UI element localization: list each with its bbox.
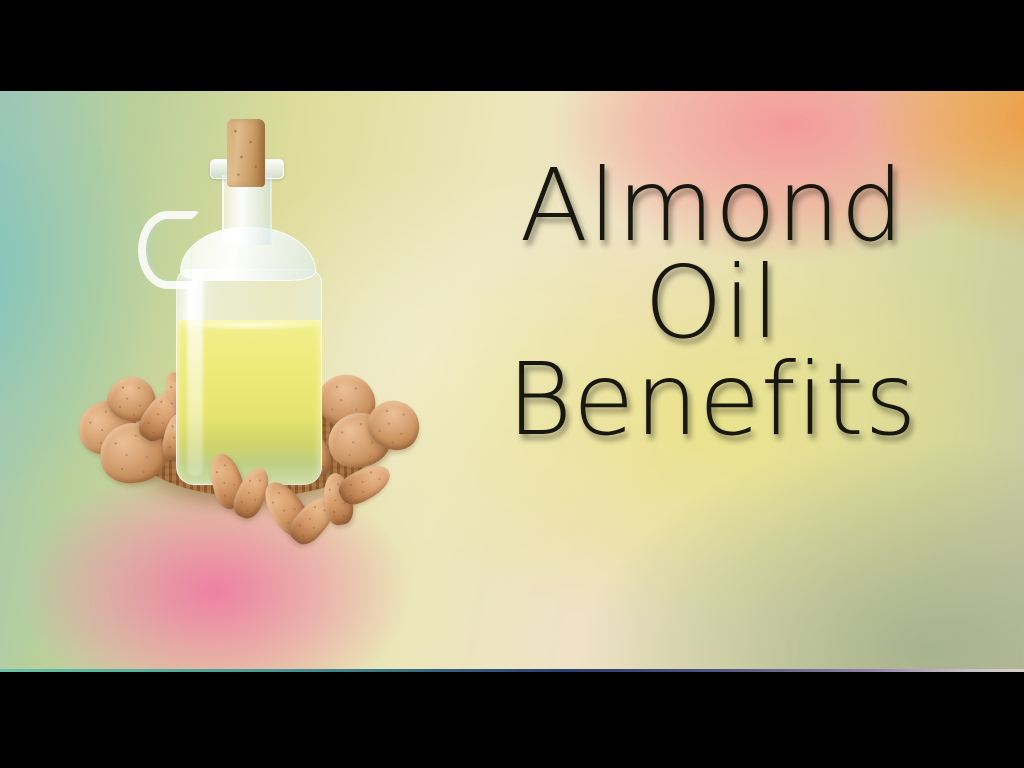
thumbnail-canvas: Almond Oil Benefits Ryan Taylor (Natural… [0,91,1024,672]
title-line-benefits: Benefits [462,351,962,448]
page-title: Almond Oil Benefits [462,157,962,448]
letterbox-bar-top [0,0,1024,91]
title-line-almond: Almond [462,157,962,254]
bottle-body [176,269,322,485]
bottle-handle [138,211,200,289]
cork-stopper [227,119,265,187]
thumbnail-screen: Almond Oil Benefits Ryan Taylor (Natural… [0,0,1024,768]
letterbox-bar-bottom [0,672,1024,768]
product-photo-group [72,101,432,571]
title-line-oil: Oil [462,254,962,351]
glass-highlight [187,276,203,476]
